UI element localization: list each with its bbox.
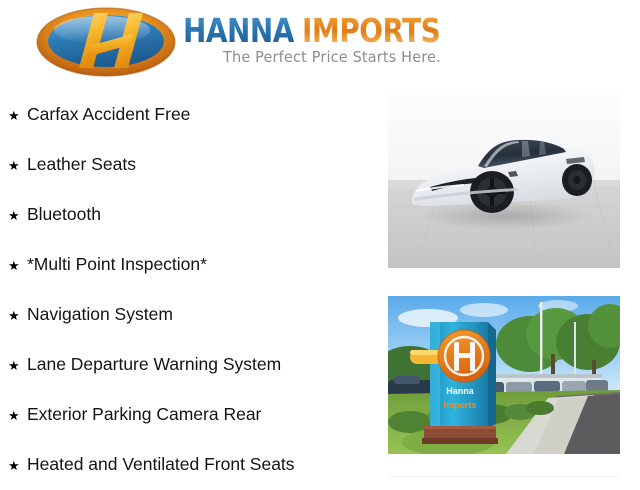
feature-list-item: ★ Lane Departure Warning System [0,340,372,390]
feature-label: Leather Seats [27,155,136,174]
feature-list-item: ★ Bluetooth [0,190,372,240]
brand-wordmark: HANNA IMPORTS The Perfect Price Starts H… [183,6,457,66]
star-bullet-icon: ★ [8,109,27,122]
brand-name-hanna: HANNA [183,14,294,47]
brand-name-imports: IMPORTS [302,14,440,47]
star-bullet-icon: ★ [8,459,27,472]
feature-label: Lane Departure Warning System [27,355,281,374]
vehicle-photo[interactable] [388,94,620,268]
feature-label: *Multi Point Inspection* [27,255,207,274]
feature-list-item: ★ Exterior Parking Camera Rear [0,390,372,440]
star-bullet-icon: ★ [8,309,27,322]
vehicle-feature-list: ★ Carfax Accident Free ★ Leather Seats ★… [0,90,372,480]
feature-list-item: ★ Heated and Ventilated Front Seats [0,440,372,490]
feature-label: Carfax Accident Free [27,105,190,124]
feature-label: Navigation System [27,305,173,324]
dealership-sign-photo[interactable]: 310 Hanna Imports [388,296,620,454]
feature-list-item: ★ *Multi Point Inspection* [0,240,372,290]
star-bullet-icon: ★ [8,159,27,172]
star-bullet-icon: ★ [8,209,27,222]
photo-bottom-edge [388,476,620,477]
feature-label: Exterior Parking Camera Rear [27,405,261,424]
svg-text:Hanna: Hanna [446,386,475,396]
hanna-oval-emblem-icon [36,6,177,78]
star-bullet-icon: ★ [8,409,27,422]
feature-list-item: ★ Leather Seats [0,140,372,190]
feature-list-item: ★ Navigation System [0,290,372,340]
dealer-logo[interactable]: HANNA IMPORTS The Perfect Price Starts H… [36,6,457,78]
feature-list-item: ★ Carfax Accident Free [0,90,372,140]
star-bullet-icon: ★ [8,259,27,272]
feature-label: Bluetooth [27,205,101,224]
brand-tagline: The Perfect Price Starts Here. [223,48,441,66]
svg-text:Imports: Imports [443,400,476,410]
star-bullet-icon: ★ [8,359,27,372]
feature-label: Heated and Ventilated Front Seats [27,455,295,474]
brand-header: HANNA IMPORTS The Perfect Price Starts H… [0,0,640,88]
